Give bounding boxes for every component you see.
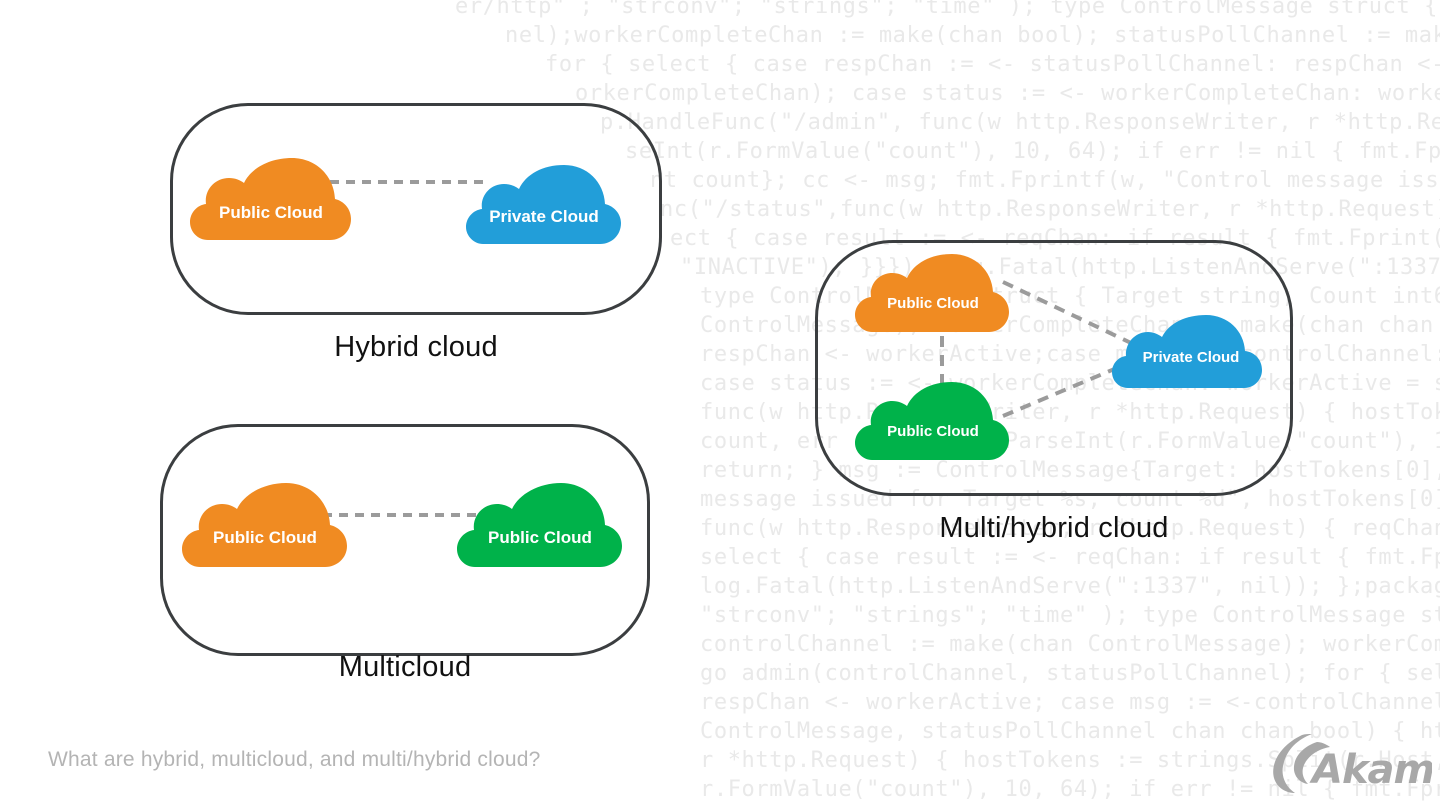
code-background-line: nel);workerCompleteChan := make(chan boo… xyxy=(505,25,1440,47)
akamai-logo: Akamai xyxy=(1268,731,1432,795)
cloud-private-cloud-blue-2[interactable]: Private Cloud xyxy=(1110,313,1272,395)
cloud-public-cloud-orange-3[interactable]: Public Cloud xyxy=(853,252,1013,340)
code-background-line: nc("/status",func(w http.ResponseWriter,… xyxy=(660,199,1440,221)
akamai-swoosh-icon xyxy=(1273,734,1312,793)
code-background-line: for { select { case respChan := <- statu… xyxy=(545,54,1440,76)
cloud-shape-icon xyxy=(464,163,624,257)
panel-caption-hybrid-cloud: Hybrid cloud xyxy=(170,331,662,364)
cloud-public-cloud-orange-2[interactable]: Public Cloud xyxy=(180,481,350,581)
code-background-line: controlChannel := make(chan ControlMessa… xyxy=(700,634,1440,656)
code-background-line: p.HandleFunc("/admin", func(w http.Respo… xyxy=(600,112,1440,134)
slide-canvas: er/http" ; "strconv"; "strings"; "time" … xyxy=(0,0,1440,810)
code-background-line: go admin(controlChannel, statusPollChann… xyxy=(700,663,1440,685)
cloud-shape-icon xyxy=(853,380,1013,468)
code-background-line: select { case result := <- reqChan: if r… xyxy=(700,547,1440,569)
cloud-shape-icon xyxy=(853,252,1013,340)
akamai-wordmark: Akamai xyxy=(1309,747,1432,793)
code-background-line: respChan <- workerActive; case msg := <-… xyxy=(700,692,1440,714)
code-background-line: orkerCompleteChan); case status := <- wo… xyxy=(575,83,1440,105)
cloud-shape-icon xyxy=(455,481,625,581)
panel-caption-multicloud: Multicloud xyxy=(160,651,650,684)
code-background-line: log.Fatal(http.ListenAndServe(":1337", n… xyxy=(700,576,1440,598)
cloud-shape-icon xyxy=(1110,313,1272,395)
cloud-shape-icon xyxy=(180,481,350,581)
cloud-public-cloud-green[interactable]: Public Cloud xyxy=(455,481,625,581)
code-background-line: "strconv"; "strings"; "time" ); type Con… xyxy=(700,605,1440,627)
code-background-line: nt count}; cc <- msg; fmt.Fprintf(w, "Co… xyxy=(650,170,1440,192)
cloud-private-cloud-blue[interactable]: Private Cloud xyxy=(464,163,624,257)
footer-caption: What are hybrid, multicloud, and multi/h… xyxy=(48,748,540,772)
cloud-public-cloud-orange[interactable]: Public Cloud xyxy=(188,156,354,254)
cloud-public-cloud-green-2[interactable]: Public Cloud xyxy=(853,380,1013,468)
cloud-shape-icon xyxy=(188,156,354,254)
panel-caption-multi-hybrid-cloud: Multi/hybrid cloud xyxy=(815,512,1293,545)
code-background-line: seInt(r.FormValue("count"), 10, 64); if … xyxy=(625,141,1440,163)
code-background-line: er/http" ; "strconv"; "strings"; "time" … xyxy=(455,0,1440,18)
